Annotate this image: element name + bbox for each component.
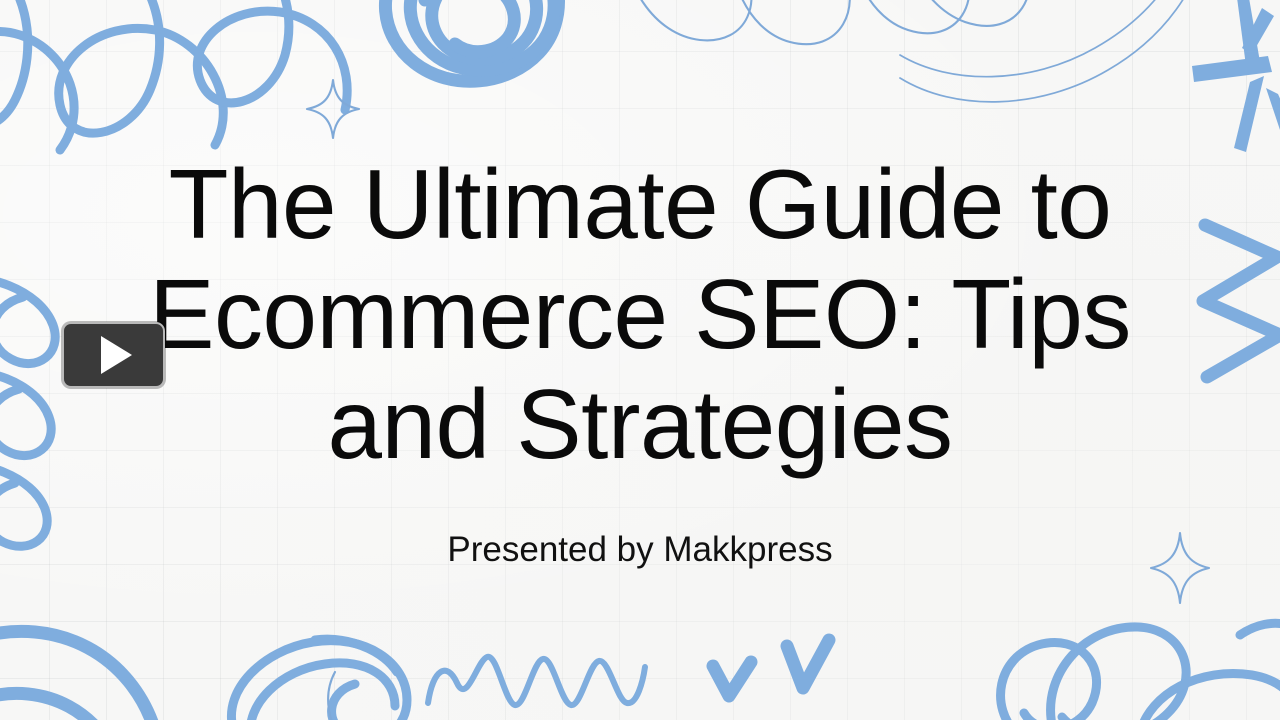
presentation-slide: The Ultimate Guide to Ecommerce SEO: Tip…	[0, 0, 1280, 720]
play-triangle-icon	[101, 336, 132, 374]
slide-subtitle: Presented by Makkpress	[60, 529, 1220, 571]
video-play-button[interactable]	[62, 322, 165, 388]
page-title: The Ultimate Guide to Ecommerce SEO: Tip…	[60, 149, 1220, 479]
slide-content: The Ultimate Guide to Ecommerce SEO: Tip…	[0, 0, 1280, 720]
